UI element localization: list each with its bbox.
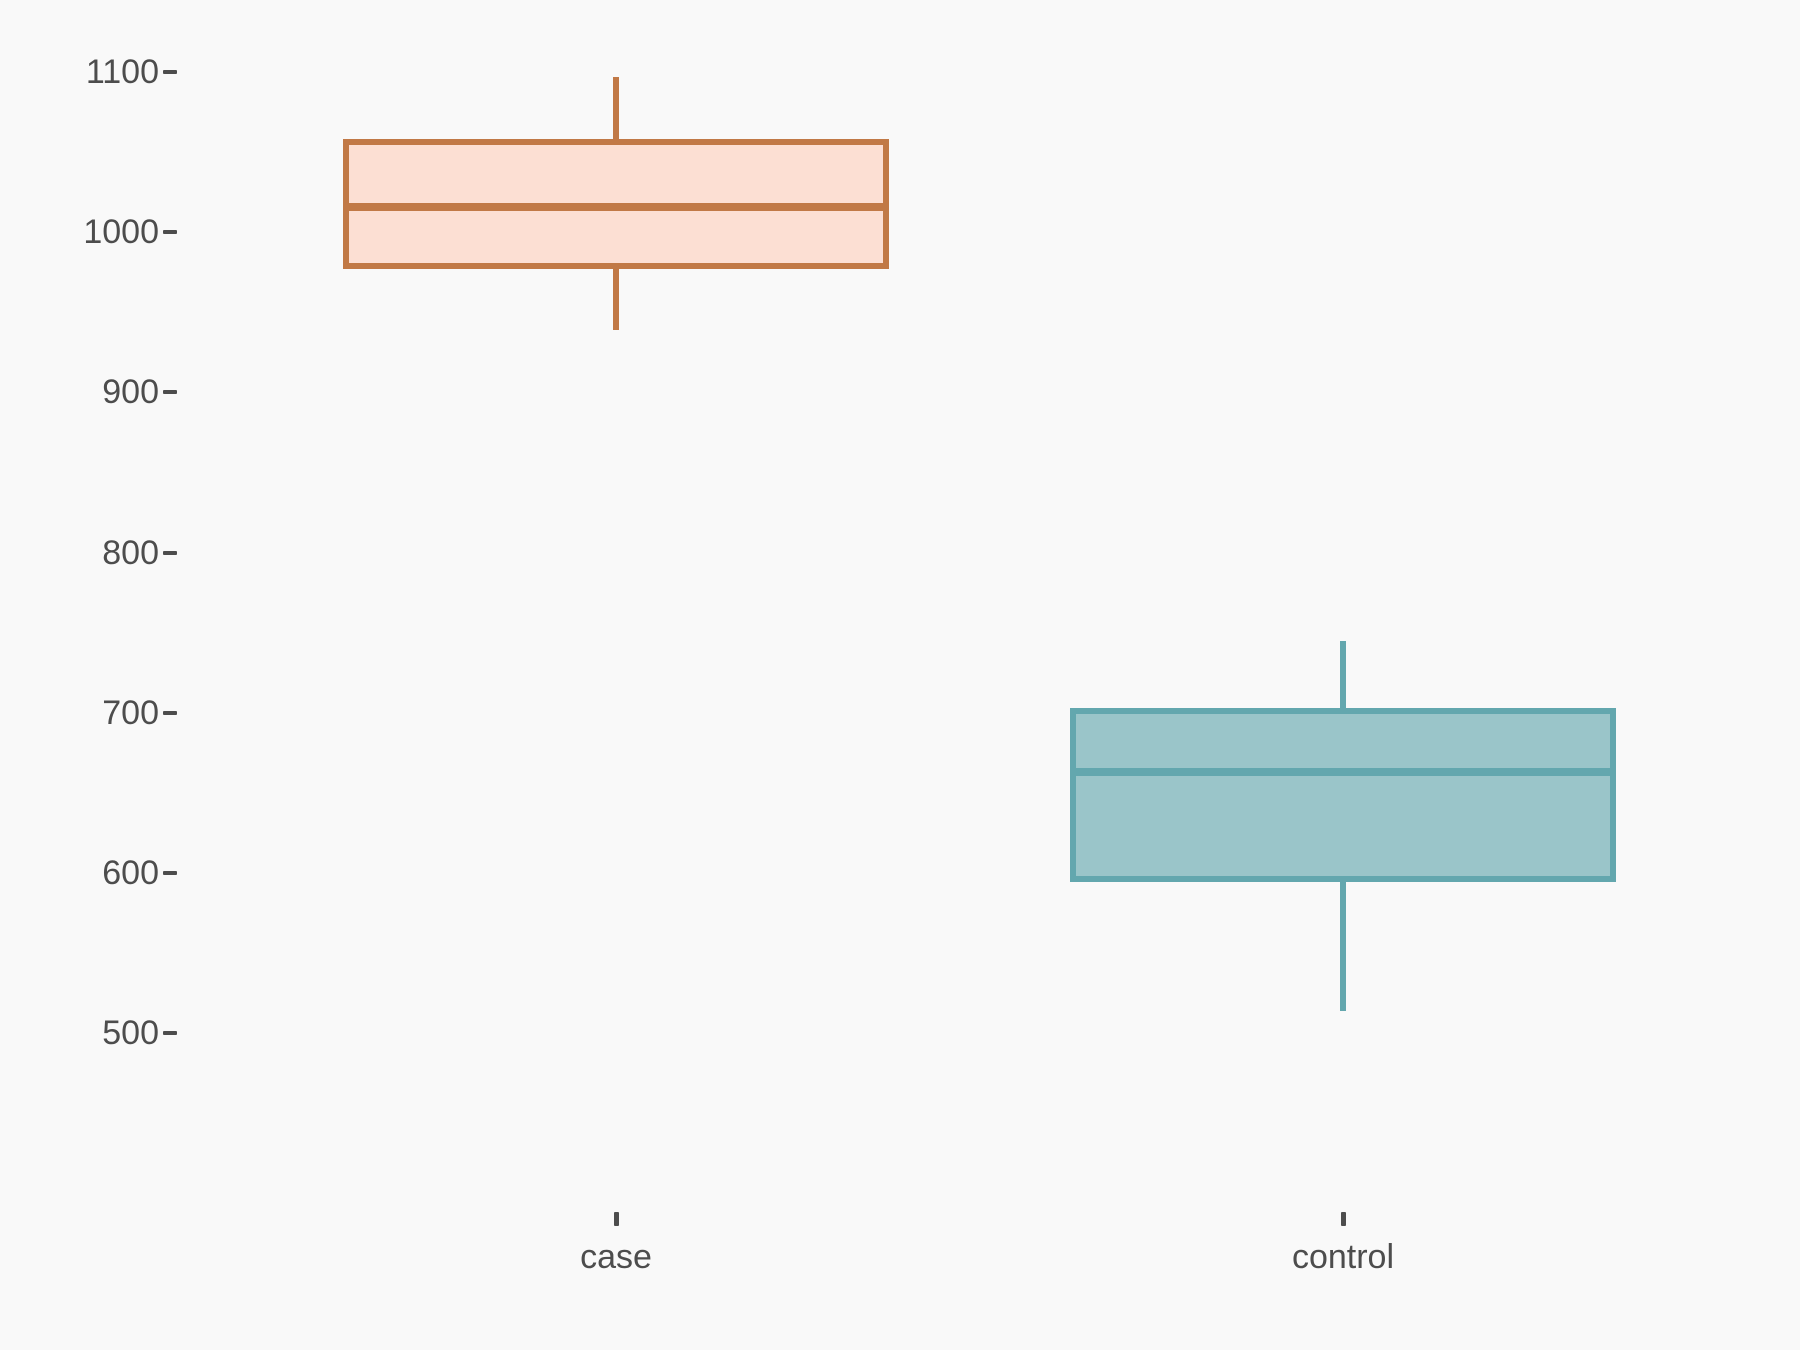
whisker-upper	[1340, 641, 1346, 708]
y-axis-tick-label: 800	[102, 531, 159, 575]
y-axis-title: Gene Expression	[0, 0, 70, 70]
y-axis-tick-mark	[163, 70, 177, 74]
box-iqr[interactable]	[1070, 708, 1616, 883]
y-axis-tick-label: 1100	[86, 50, 159, 94]
median-line	[1070, 768, 1616, 776]
y-axis-tick-label: 700	[102, 691, 159, 735]
whisker-lower	[613, 269, 619, 330]
y-axis-tick-mark	[163, 1031, 177, 1035]
x-axis-tick-label: control	[1143, 1238, 1543, 1277]
y-axis-tick-label: 900	[102, 370, 159, 414]
y-axis-tick-mark	[163, 711, 177, 715]
y-axis-tick-mark	[163, 551, 177, 555]
x-axis-tick-mark	[1341, 1212, 1346, 1226]
boxplot-chart: Gene Expression 11001000900800700600500 …	[0, 0, 1800, 1350]
y-axis-tick-label: 600	[102, 851, 159, 895]
y-axis-tick-mark	[163, 390, 177, 394]
y-axis-tick-label: 1000	[83, 210, 159, 254]
whisker-lower	[1340, 882, 1346, 1010]
x-axis-tick-mark	[614, 1212, 619, 1226]
whisker-upper	[613, 77, 619, 139]
y-axis-tick-label: 500	[102, 1011, 159, 1055]
y-axis-tick-mark	[163, 871, 177, 875]
median-line	[343, 203, 889, 211]
y-axis-tick-mark	[163, 230, 177, 234]
x-axis-tick-label: case	[416, 1238, 816, 1277]
